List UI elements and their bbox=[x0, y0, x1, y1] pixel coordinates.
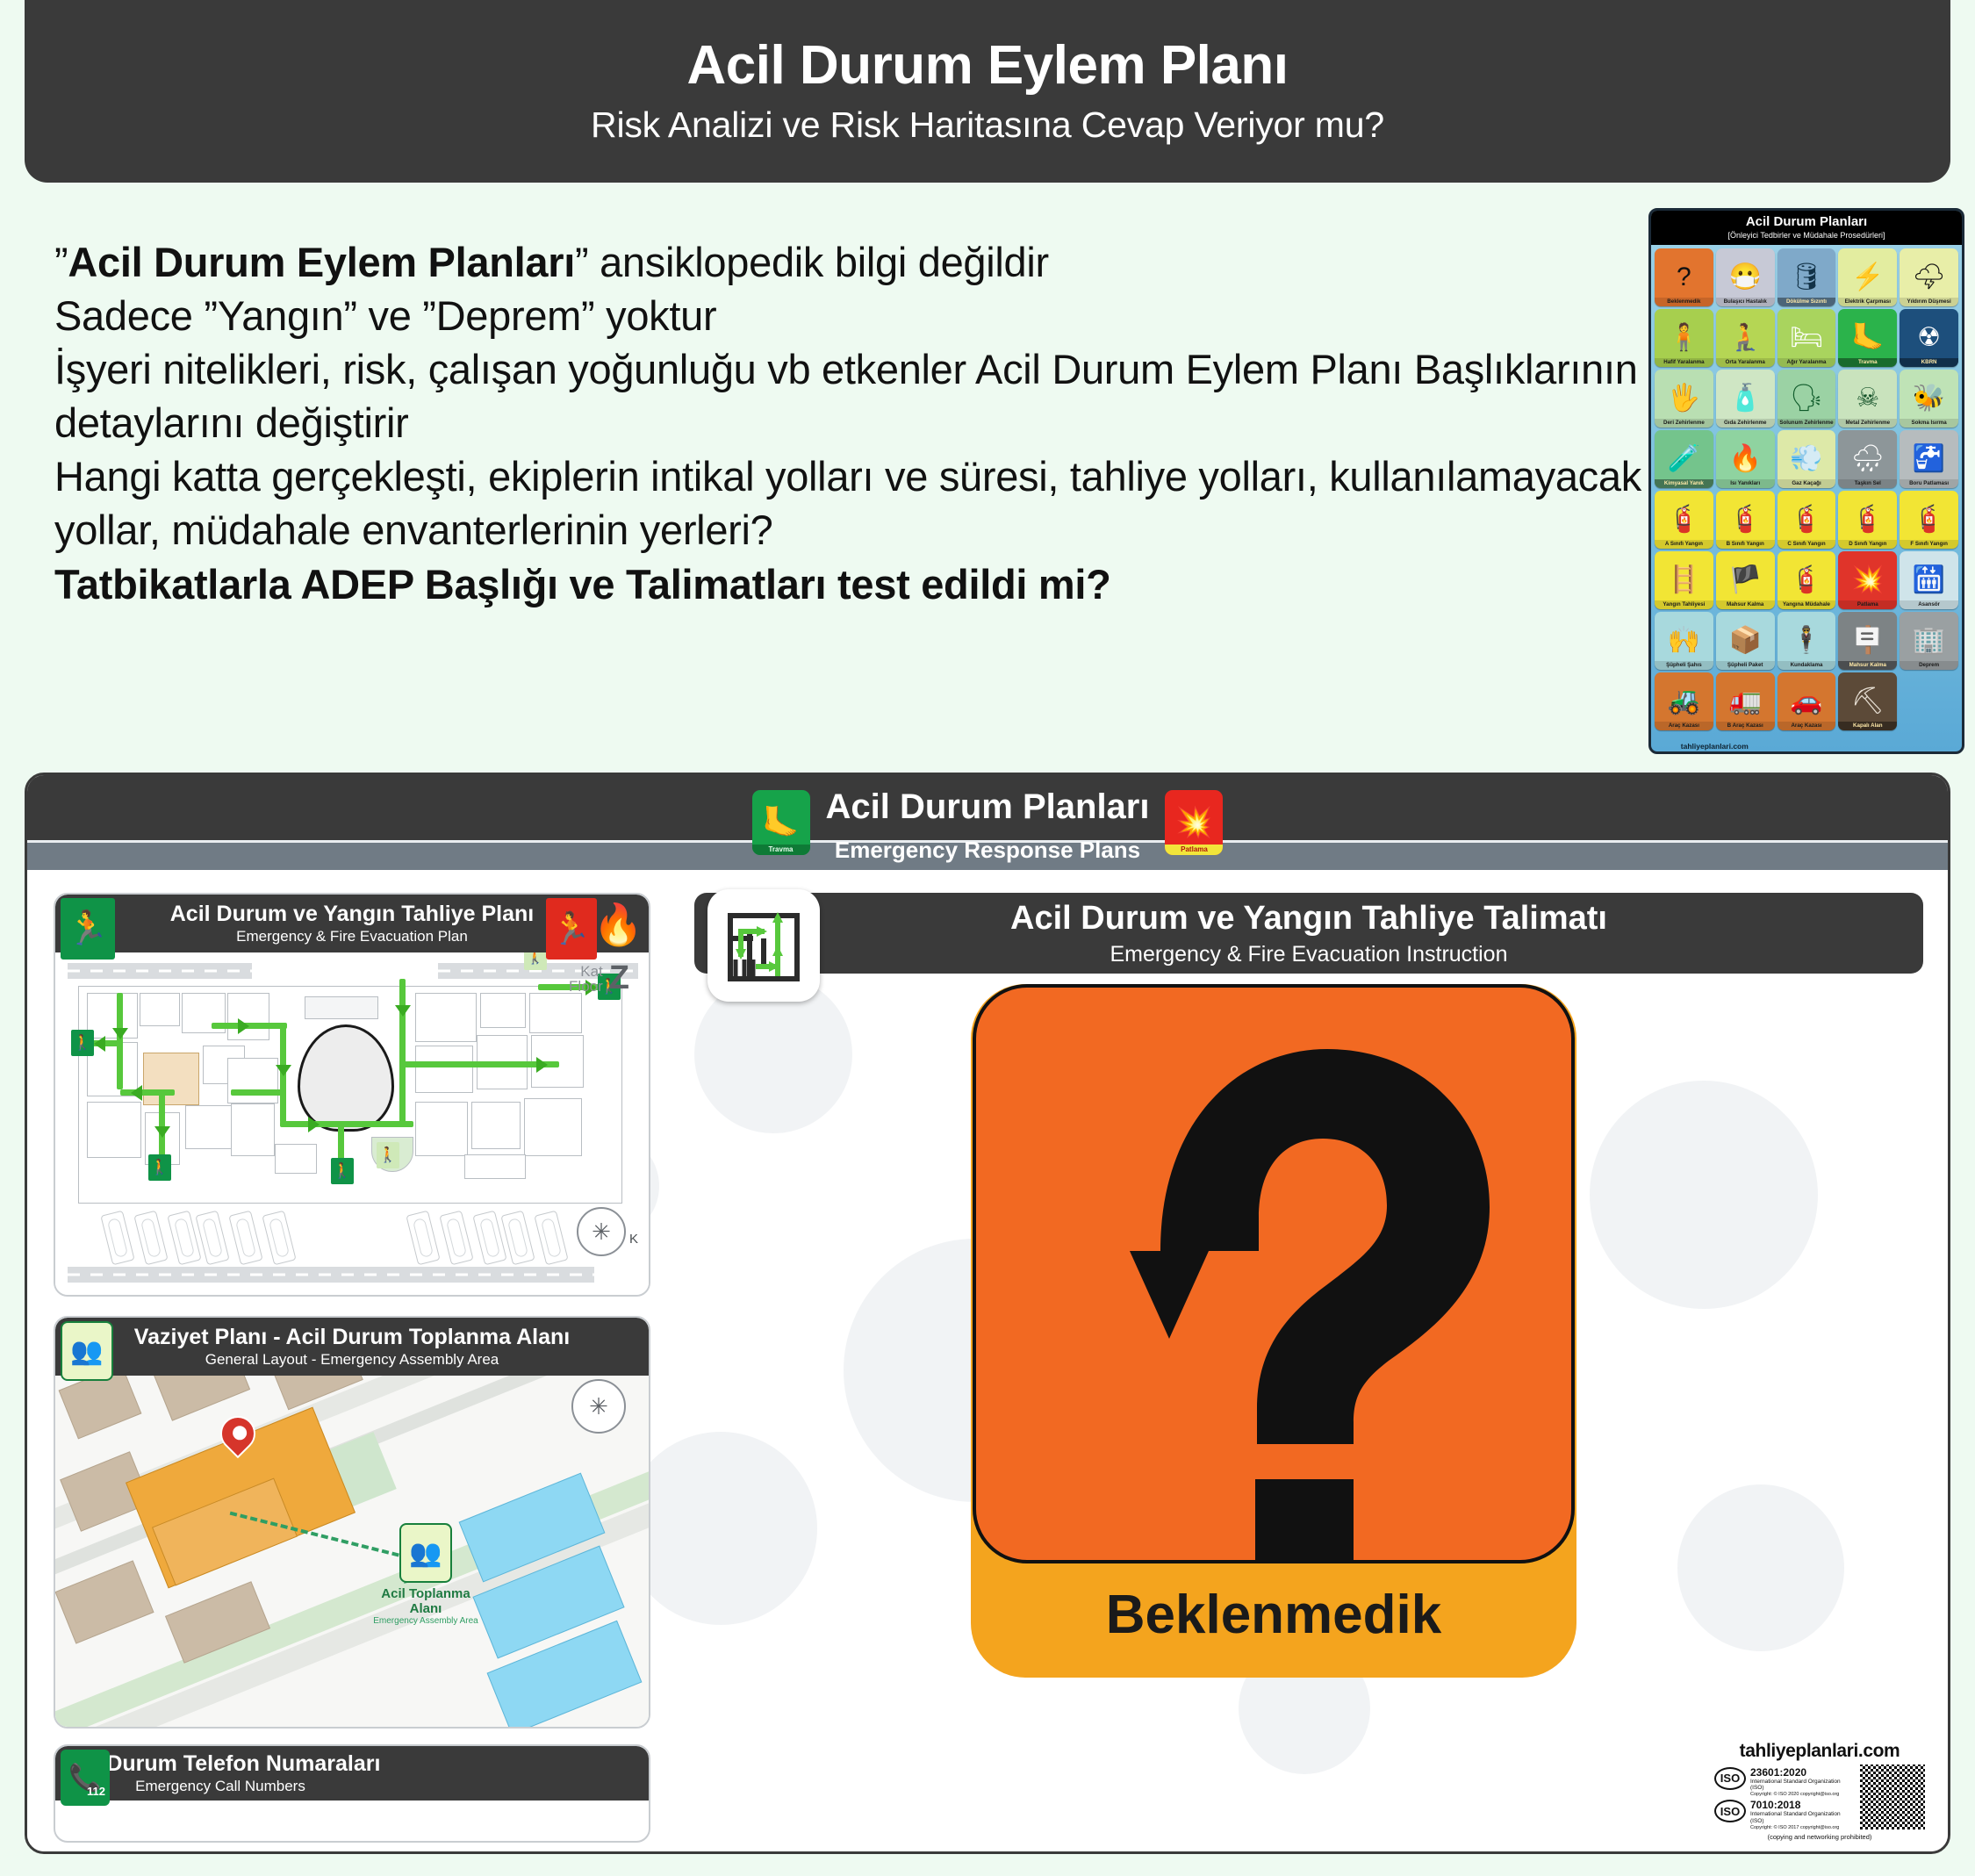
evacuation-route bbox=[212, 1023, 287, 1029]
poster-cell-icon: 🪧 bbox=[1851, 628, 1884, 654]
parking-space bbox=[439, 1211, 473, 1266]
emergency-plans-poster-thumbnail[interactable]: Acil Durum Planları [Önleyici Tedbirler … bbox=[1648, 208, 1964, 754]
poster-cell-icon: ⚡ bbox=[1851, 264, 1884, 291]
road-bottom bbox=[68, 1267, 594, 1283]
board-title: Acil Durum Planları bbox=[826, 784, 1150, 824]
bandaged-foot-icon: 🦶 bbox=[762, 805, 799, 840]
poster-website: tahliyeplanlari.com bbox=[1681, 742, 1749, 751]
intro-text-block: ”Acil Durum Eylem Planları” ansiklopedik… bbox=[54, 235, 1670, 611]
poster-cell[interactable]: 🪜Yangın Tahliyesi bbox=[1655, 551, 1713, 609]
room-block bbox=[415, 1046, 473, 1093]
poster-cell-label: B Sınıfı Yangın bbox=[1716, 540, 1775, 550]
poster-cell-label: Kapalı Alan bbox=[1838, 722, 1897, 731]
room-block bbox=[140, 993, 180, 1026]
iso-standard-copyright: Copyright: © ISO 2020 copyright@iso.org bbox=[1750, 1792, 1853, 1797]
poster-cell[interactable]: 📦Şüpheli Paket bbox=[1716, 612, 1775, 670]
route-arrow bbox=[308, 1117, 320, 1132]
assembly-sign-icon-left: 👥 bbox=[61, 1321, 113, 1381]
floor-indicator: Kat Floor Z bbox=[569, 960, 629, 997]
poster-cell-label: Şüpheli Şahıs bbox=[1655, 661, 1713, 671]
you-are-here-marker bbox=[220, 1416, 255, 1462]
road-top-left bbox=[68, 963, 252, 979]
poster-cell-label: Boru Patlaması bbox=[1900, 479, 1958, 489]
intro-line-1: ”Acil Durum Eylem Planları” ansiklopedik… bbox=[54, 235, 1670, 289]
trauma-sign-caption: Travma bbox=[752, 845, 810, 855]
parking-space bbox=[228, 1211, 262, 1266]
room-block bbox=[185, 1105, 233, 1149]
page-subtitle: Risk Analizi ve Risk Haritasına Cevap Ve… bbox=[591, 104, 1384, 146]
poster-cell-icon: 🧯 bbox=[1790, 567, 1822, 593]
room-block bbox=[227, 1058, 278, 1103]
page-header: Acil Durum Eylem Planı Risk Analizi ve R… bbox=[25, 0, 1950, 183]
poster-cell-label: Kundaklama bbox=[1777, 661, 1836, 671]
city-block bbox=[55, 1560, 154, 1643]
iso-standard-org: International Standard Organization (ISO… bbox=[1750, 1779, 1853, 1792]
decorative-circle bbox=[1590, 1081, 1818, 1309]
poster-cell-label: Solunum Zehirlenme bbox=[1777, 419, 1836, 428]
poster-cell-label: Gıda Zehirlenme bbox=[1716, 419, 1775, 428]
poster-cell-label: Mahsur Kalma bbox=[1716, 600, 1775, 610]
room-block bbox=[415, 993, 477, 1042]
poster-cell-label: Mahsur Kalma bbox=[1838, 661, 1897, 671]
poster-cell-label: A Sınıfı Yangın bbox=[1655, 540, 1713, 550]
poster-cell[interactable]: 😷Bulaşıcı Hastalık bbox=[1716, 248, 1775, 306]
poster-cell-icon: 🕴 bbox=[1790, 628, 1822, 654]
route-arrow bbox=[536, 1057, 548, 1073]
question-mark-arrow-icon bbox=[976, 988, 1578, 1563]
poster-cell-label: C Sınıfı Yangın bbox=[1777, 540, 1836, 550]
poster-cell-label: Orta Yaralanma bbox=[1716, 358, 1775, 368]
unexpected-event-label: Beklenmedik bbox=[971, 1584, 1576, 1646]
site-plan-subtitle: General Layout - Emergency Assembly Area bbox=[134, 1352, 570, 1368]
poster-cell-icon: 🛏 bbox=[1790, 325, 1823, 351]
parking-space bbox=[534, 1211, 568, 1266]
route-arrow bbox=[94, 1036, 105, 1052]
poster-cell-icon: 🌩 bbox=[1913, 264, 1946, 291]
decorative-circle bbox=[624, 1432, 817, 1625]
poster-cell[interactable]: ⚡Elektrik Çarpması bbox=[1838, 248, 1897, 306]
poster-cell-label: Ağır Yaralanma bbox=[1777, 358, 1836, 368]
room-block bbox=[87, 1102, 141, 1158]
poster-cell[interactable]: 🪧Mahsur Kalma bbox=[1838, 612, 1897, 670]
poster-cell[interactable]: 🏢Deprem bbox=[1900, 612, 1958, 670]
qr-code[interactable] bbox=[1860, 1765, 1925, 1829]
assembly-area-marker: 👥 Acil Toplanma Alanı Emergency Assembly… bbox=[364, 1523, 487, 1626]
poster-cell-label: Gaz Kaçağı bbox=[1777, 479, 1836, 489]
parking-space bbox=[100, 1211, 134, 1266]
evacuation-route bbox=[120, 1089, 175, 1096]
poster-cell-icon: 💥 bbox=[1851, 567, 1884, 593]
fire-exit-sign-icon-right: 🏃 🔥 bbox=[546, 898, 643, 960]
poster-subtitle: [Önleyici Tedbirler ve Müdahale Prosedür… bbox=[1655, 231, 1958, 241]
flame-icon: 🔥 bbox=[593, 898, 643, 951]
certification-rows: ISO 23601:2020 International Standard Or… bbox=[1714, 1765, 1925, 1830]
poster-cell-icon: 💨 bbox=[1790, 446, 1822, 472]
evacuation-route bbox=[231, 1089, 284, 1096]
poster-cell[interactable]: 🧯A Sınıfı Yangın bbox=[1655, 491, 1713, 549]
entrance-lobby bbox=[275, 1144, 317, 1174]
poster-cell-label: Yangın Tahliyesi bbox=[1655, 600, 1713, 610]
poster-cell-label: Isı Yanıkları bbox=[1716, 479, 1775, 489]
intro-line-3: İşyeri nitelikleri, risk, çalışan yoğunl… bbox=[54, 342, 1670, 449]
poster-cell-label: Hafif Yaralanma bbox=[1655, 358, 1713, 368]
poster-cell-label: KBRN bbox=[1900, 358, 1958, 368]
poster-cell-label: Kimyasal Yanık bbox=[1655, 479, 1713, 489]
arrow-down bbox=[772, 945, 783, 956]
iso-standard-number: 7010:2018 bbox=[1750, 1800, 1853, 1811]
poster-cell[interactable]: 🧯F Sınıfı Yangın bbox=[1900, 491, 1958, 549]
poster-cell[interactable]: ⛏Kapalı Alan bbox=[1838, 672, 1897, 730]
poster-cell-icon: ? bbox=[1677, 264, 1691, 291]
poster-cell-icon: 🧯 bbox=[1729, 507, 1762, 533]
evacuation-instruction-subtitle: Emergency & Fire Evacuation Instruction bbox=[1010, 944, 1607, 966]
poster-cell-label: B Araç Kazası bbox=[1716, 722, 1775, 731]
poster-cell-label: Sokma Isırma bbox=[1900, 419, 1958, 428]
fire-exit-running-man-icon: 🏃 bbox=[546, 898, 597, 960]
poster-cell-icon: 🌧 bbox=[1851, 446, 1885, 472]
poster-cell[interactable]: ?Beklenmedik bbox=[1655, 248, 1713, 306]
parking-space bbox=[406, 1211, 440, 1266]
evacuation-plan-panel[interactable]: 🚶 🚶 🚶 🚶 🚶 🚶 ✳ K bbox=[54, 893, 650, 1297]
decorative-circle bbox=[1677, 1484, 1844, 1651]
poster-cell-icon: 📦 bbox=[1729, 628, 1762, 654]
poster-cell[interactable]: 🙌Şüpheli Şahıs bbox=[1655, 612, 1713, 670]
poster-cell-icon: 🖐 bbox=[1668, 385, 1700, 412]
poster-cell-icon: 🧯 bbox=[1913, 507, 1945, 533]
poster-cell[interactable]: 💥Patlama bbox=[1838, 551, 1897, 609]
evacuation-route bbox=[338, 1121, 344, 1163]
poster-cell[interactable]: 🚗Araç Kazası bbox=[1777, 672, 1836, 730]
phone-sign-icon-left: 📞112 bbox=[61, 1750, 110, 1806]
poster-footer: tahliyeplanlari.com bbox=[1655, 733, 1775, 754]
poster-cell-icon: 🔥 bbox=[1729, 446, 1762, 472]
evacuation-instruction-title: Acil Durum ve Yangın Tahliye Talimatı bbox=[1010, 902, 1607, 935]
site-plan-panel[interactable]: 👥 Acil Toplanma Alanı Emergency Assembly… bbox=[54, 1316, 650, 1729]
poster-cell-icon: 😷 bbox=[1729, 264, 1762, 291]
unexpected-event-card[interactable]: Beklenmedik bbox=[971, 984, 1576, 1678]
poster-cell-icon: 🚗 bbox=[1790, 688, 1822, 715]
poster-cell[interactable]: 🌩Yıldırım Düşmesi bbox=[1900, 248, 1958, 306]
website-url: tahliyeplanlari.com bbox=[1740, 1741, 1900, 1762]
evacuation-route bbox=[399, 1061, 559, 1067]
room-block bbox=[480, 993, 526, 1028]
iso-standard-number: 23601:2020 bbox=[1750, 1767, 1853, 1779]
poster-cell[interactable]: ☠Metal Zehirlenme bbox=[1838, 370, 1897, 428]
floor-label-tr: Kat bbox=[569, 964, 603, 979]
floor-label-en: Floor bbox=[569, 979, 603, 994]
emergency-number-badge: 112 bbox=[87, 1785, 105, 1798]
poster-cell-label: Araç Kazası bbox=[1655, 722, 1713, 731]
poster-cell[interactable]: 🕴Kundaklama bbox=[1777, 612, 1836, 670]
site-plan-title: Vaziyet Planı - Acil Durum Toplanma Alan… bbox=[134, 1326, 570, 1348]
seating-area bbox=[305, 996, 378, 1019]
assembly-area-label: Acil Toplanma Alanı bbox=[364, 1586, 487, 1616]
poster-cell[interactable]: 🧯C Sınıfı Yangın bbox=[1777, 491, 1836, 549]
poster-cell-icon: 🧯 bbox=[1851, 507, 1884, 533]
poster-cell-label: Deprem bbox=[1900, 661, 1958, 671]
exit-marker: 🚶 bbox=[148, 1154, 171, 1181]
poster-cell-icon: 🚜 bbox=[1668, 688, 1700, 715]
compass-rose-icon: ✳ bbox=[577, 1207, 626, 1256]
poster-cell-icon: 🗣 bbox=[1790, 385, 1823, 412]
poster-cell-icon: 🏴 bbox=[1729, 567, 1762, 593]
poster-cell-icon: ☠ bbox=[1856, 385, 1879, 412]
route-arrow bbox=[238, 1018, 249, 1034]
page-title: Acil Durum Eylem Planı bbox=[687, 37, 1289, 94]
poster-cell-icon: 🛢 bbox=[1790, 264, 1823, 291]
explosion-sign-icon: 💥 Patlama bbox=[1165, 790, 1223, 855]
floor-indicator-labels: Kat Floor bbox=[569, 964, 603, 994]
room-block bbox=[464, 1154, 526, 1179]
poster-cell-icon: 🏢 bbox=[1913, 628, 1945, 654]
board-title-text: Acil Durum Planları Emergency Response P… bbox=[826, 784, 1150, 861]
site-plan-canvas: 👥 Acil Toplanma Alanı Emergency Assembly… bbox=[55, 1318, 649, 1727]
running-man-exit-icon: 🏃 bbox=[61, 898, 115, 960]
poster-cell-icon: 🐝 bbox=[1913, 385, 1945, 412]
poster-cell-label: Bulaşıcı Hastalık bbox=[1716, 298, 1775, 307]
board-subtitle: Emergency Response Plans bbox=[826, 838, 1150, 861]
iso-standard-copyright: Copyright: © ISO 2017 copyright@iso.org bbox=[1750, 1825, 1853, 1830]
poster-cell[interactable]: 🛗Asansör bbox=[1900, 551, 1958, 609]
evacuation-route bbox=[399, 979, 406, 1123]
poster-title: Acil Durum Planları bbox=[1655, 215, 1958, 230]
room-block-highlighted bbox=[143, 1053, 199, 1105]
exit-marker: 🚶 bbox=[331, 1158, 354, 1184]
poster-cell-icon: ☢ bbox=[1917, 325, 1941, 351]
assembly-point-icon: 👥 bbox=[61, 1321, 113, 1381]
route-arrow bbox=[276, 1065, 291, 1076]
iso-standards-list: ISO 23601:2020 International Standard Or… bbox=[1714, 1765, 1853, 1830]
room-block bbox=[529, 993, 582, 1033]
poster-cell-label: Şüpheli Paket bbox=[1716, 661, 1775, 671]
poster-cell-icon: 🦶 bbox=[1851, 325, 1884, 351]
poster-cell-icon: 🚛 bbox=[1729, 688, 1762, 715]
intro-line-5: Tatbikatlarla ADEP Başlığı ve Talimatlar… bbox=[54, 557, 1670, 611]
assembly-area-sublabel: Emergency Assembly Area bbox=[364, 1616, 487, 1626]
poster-cell[interactable]: 🚛B Araç Kazası bbox=[1716, 672, 1775, 730]
poster-cell-icon: ⛏ bbox=[1851, 688, 1885, 715]
poster-cell-label: Asansör bbox=[1900, 600, 1958, 610]
poster-cell-label: Dökülme Sızıntı bbox=[1777, 298, 1836, 307]
intro-quote-open: ” bbox=[54, 239, 68, 285]
poster-cell[interactable]: 🛏Ağır Yaralanma bbox=[1777, 309, 1836, 367]
intro-bold-term: Acil Durum Eylem Planları bbox=[68, 239, 575, 285]
floor-value: Z bbox=[609, 960, 629, 997]
intro-line-1-rest: ” ansiklopedik bilgi değildir bbox=[575, 239, 1049, 285]
poster-cell[interactable]: 🧪Kimyasal Yanık bbox=[1655, 430, 1713, 488]
poster-cell[interactable]: 🛢Dökülme Sızıntı bbox=[1777, 248, 1836, 306]
poster-icon-grid: ?Beklenmedik😷Bulaşıcı Hastalık🛢Dökülme S… bbox=[1655, 248, 1958, 754]
poster-cell-label: Metal Zehirlenme bbox=[1838, 419, 1897, 428]
poster-cell[interactable]: 🗣Solunum Zehirlenme bbox=[1777, 370, 1836, 428]
emergency-response-board: 🦶 Travma Acil Durum Planları Emergency R… bbox=[25, 773, 1950, 1854]
exit-sign-icon-left: 🏃 bbox=[61, 898, 115, 960]
poster-cell-icon: 🧯 bbox=[1668, 507, 1700, 533]
iso-logo-icon: ISO bbox=[1714, 1767, 1746, 1790]
route-arrow bbox=[112, 1028, 128, 1039]
site-plan-header: 👥 Vaziyet Planı - Acil Durum Toplanma Al… bbox=[55, 1318, 649, 1376]
poster-cell-icon: 🧯 bbox=[1790, 507, 1822, 533]
poster-header: Acil Durum Planları [Önleyici Tedbirler … bbox=[1651, 211, 1962, 245]
evacuation-plan-title: Acil Durum ve Yangın Tahliye Planı bbox=[170, 902, 534, 925]
floor-plan-route-icon[interactable] bbox=[707, 889, 820, 1002]
evacuation-plan-header: 🏃 Acil Durum ve Yangın Tahliye Planı Eme… bbox=[55, 895, 649, 952]
poster-cell[interactable]: 🧯Yangına Müdahale bbox=[1777, 551, 1836, 609]
evacuation-plan-title-group: Acil Durum ve Yangın Tahliye Planı Emerg… bbox=[170, 902, 534, 945]
poster-cell[interactable]: 🐝Sokma Isırma bbox=[1900, 370, 1958, 428]
poster-cell-icon: 🚰 bbox=[1913, 446, 1945, 472]
arrow-right bbox=[757, 926, 767, 937]
poster-qr-code[interactable] bbox=[1699, 753, 1729, 754]
poster-cell-label: F Sınıfı Yangın bbox=[1900, 540, 1958, 550]
room-block bbox=[524, 1098, 582, 1156]
evacuation-plan-subtitle: Emergency & Fire Evacuation Plan bbox=[170, 929, 534, 945]
poster-cell[interactable]: 🌧Taşkın Sel bbox=[1838, 430, 1897, 488]
floor-plan-arrows-svg bbox=[723, 905, 804, 986]
card-orange-face bbox=[973, 984, 1575, 1563]
route-arrow bbox=[131, 1085, 142, 1101]
poster-cell[interactable]: 🚜Araç Kazası bbox=[1655, 672, 1713, 730]
poster-cell[interactable]: 🖐Deri Zehirlenme bbox=[1655, 370, 1713, 428]
poster-cell-label: Taşkın Sel bbox=[1838, 479, 1897, 489]
board-title-group: 🦶 Travma Acil Durum Planları Emergency R… bbox=[27, 775, 1948, 870]
site-plan-title-group: Vaziyet Planı - Acil Durum Toplanma Alan… bbox=[134, 1326, 570, 1368]
poster-cell[interactable]: 🔥Isı Yanıkları bbox=[1716, 430, 1775, 488]
poster-cell-icon: 🧴 bbox=[1729, 385, 1762, 412]
compass-north-label: K bbox=[629, 1232, 638, 1247]
board-content-area: 🚶 🚶 🚶 🚶 🚶 🚶 ✳ K bbox=[27, 870, 1948, 1854]
poster-cell[interactable]: 🦶Travma bbox=[1838, 309, 1897, 367]
certification-block: tahliyeplanlari.com ISO 23601:2020 Inter… bbox=[1714, 1741, 1925, 1841]
poster-cell-label: Araç Kazası bbox=[1777, 722, 1836, 731]
explosion-icon: 💥 bbox=[1175, 805, 1212, 840]
iso-standard-row: ISO 23601:2020 International Standard Or… bbox=[1714, 1767, 1853, 1798]
exit-marker: 🚶 bbox=[377, 1142, 399, 1168]
iso-logo-icon: ISO bbox=[1714, 1800, 1746, 1822]
arrow-down bbox=[736, 949, 746, 960]
poster-cell[interactable]: 🚰Boru Patlaması bbox=[1900, 430, 1958, 488]
emergency-phones-header: 📞112 Acil Durum Telefon Numaraları Emerg… bbox=[55, 1746, 649, 1801]
poster-cell-label: D Sınıfı Yangın bbox=[1838, 540, 1897, 550]
room-block bbox=[231, 1103, 275, 1156]
assembly-point-icon: 👥 bbox=[399, 1523, 452, 1583]
poster-cell-label: Deri Zehirlenme bbox=[1655, 419, 1713, 428]
poster-cell-label: Patlama bbox=[1838, 600, 1897, 610]
route-arrow bbox=[395, 1005, 411, 1017]
explosion-sign-caption: Patlama bbox=[1165, 845, 1223, 855]
poster-cell-label: Travma bbox=[1838, 358, 1897, 368]
poster-cell-icon: 🧎 bbox=[1729, 325, 1762, 351]
room-block bbox=[415, 1102, 468, 1156]
evacuation-instruction-header: Acil Durum ve Yangın Tahliye Talimatı Em… bbox=[694, 893, 1923, 974]
poster-cell-label: Yıldırım Düşmesi bbox=[1900, 298, 1958, 307]
copy-restriction-note: (copying and networking prohibited) bbox=[1768, 1833, 1872, 1841]
emergency-phones-panel[interactable]: 📞112 Acil Durum Telefon Numaraları Emerg… bbox=[54, 1744, 650, 1843]
poster-cell[interactable]: 🧯B Sınıfı Yangın bbox=[1716, 491, 1775, 549]
poster-cell[interactable]: 🧯D Sınıfı Yangın bbox=[1838, 491, 1897, 549]
poster-cell[interactable]: 💨Gaz Kaçağı bbox=[1777, 430, 1836, 488]
intro-line-4: Hangi katta gerçekleşti, ekiplerin intik… bbox=[54, 449, 1670, 557]
route-arrow bbox=[154, 1126, 170, 1138]
emergency-phone-icon: 📞112 bbox=[61, 1750, 110, 1806]
iso-standard-org: International Standard Organization (ISO… bbox=[1750, 1811, 1853, 1824]
evacuation-instruction-title-group: Acil Durum ve Yangın Tahliye Talimatı Em… bbox=[1010, 902, 1607, 966]
location-pin-icon bbox=[213, 1409, 263, 1459]
compass-rose-icon: ✳ bbox=[571, 1379, 626, 1434]
poster-cell-icon: 🪜 bbox=[1668, 567, 1700, 593]
poster-cell-icon: 🧪 bbox=[1668, 446, 1700, 472]
poster-cell[interactable]: 🏴Mahsur Kalma bbox=[1716, 551, 1775, 609]
evacuation-route bbox=[280, 1121, 413, 1127]
poster-cell[interactable]: ☢KBRN bbox=[1900, 309, 1958, 367]
intro-line-2: Sadece ”Yangın” ve ”Deprem” yoktur bbox=[54, 289, 1670, 342]
poster-cell-icon: 🛗 bbox=[1913, 567, 1945, 593]
poster-cell[interactable]: 🧎Orta Yaralanma bbox=[1716, 309, 1775, 367]
poster-cell-icon: 🧍 bbox=[1668, 325, 1700, 351]
poster-cell[interactable]: 🧍Hafif Yaralanma bbox=[1655, 309, 1713, 367]
parking-space bbox=[133, 1211, 168, 1266]
poster-cell-icon: 🙌 bbox=[1668, 628, 1700, 654]
poster-cell[interactable]: 🧴Gıda Zehirlenme bbox=[1716, 370, 1775, 428]
iso-standard-row: ISO 7010:2018 International Standard Org… bbox=[1714, 1800, 1853, 1830]
poster-cell-label: Yangına Müdahale bbox=[1777, 600, 1836, 610]
poster-cell-label: Beklenmedik bbox=[1655, 298, 1713, 307]
poster-cell-label: Elektrik Çarpması bbox=[1838, 298, 1897, 307]
room-block bbox=[471, 1102, 521, 1149]
parking-space bbox=[262, 1211, 296, 1266]
exit-marker: 🚶 bbox=[71, 1030, 94, 1056]
trauma-sign-icon: 🦶 Travma bbox=[752, 790, 810, 855]
